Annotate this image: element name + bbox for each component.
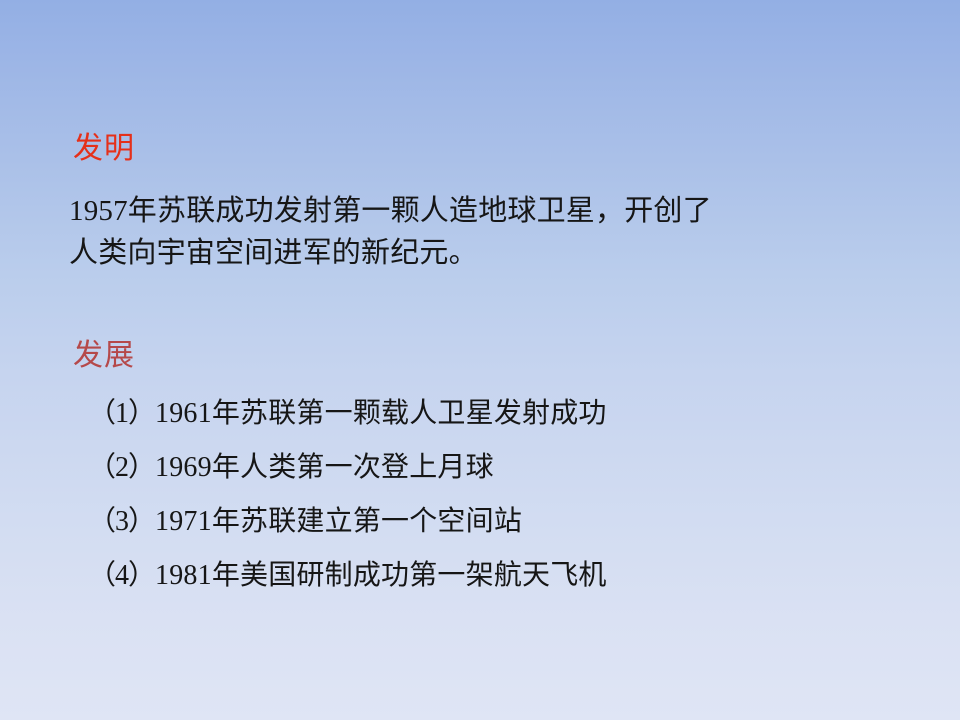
development-list: （1）1961年苏联第一颗载人卫星发射成功 （2）1969年人类第一次登上月球 …	[88, 398, 908, 614]
list-item-label: 1971年苏联建立第一个空间站	[155, 506, 522, 537]
list-item-marker: （1）	[88, 398, 155, 429]
list-item-label: 1969年人类第一次登上月球	[155, 452, 494, 483]
slide-content: 发明 1957年苏联成功发射第一颗人造地球卫星，开创了 人类向宇宙空间进军的新纪…	[0, 0, 960, 720]
list-item: （4）1981年美国研制成功第一架航天飞机	[88, 560, 908, 614]
invention-paragraph-line-2: 人类向宇宙空间进军的新纪元。	[69, 232, 829, 274]
invention-paragraph-line-1: 1957年苏联成功发射第一颗人造地球卫星，开创了	[69, 190, 829, 232]
section-heading-development: 发展	[73, 338, 135, 374]
list-item-marker: （2）	[88, 452, 155, 483]
invention-paragraph: 1957年苏联成功发射第一颗人造地球卫星，开创了 人类向宇宙空间进军的新纪元。	[69, 190, 829, 274]
list-item-label: 1961年苏联第一颗载人卫星发射成功	[155, 398, 607, 429]
slide-canvas: 发明 1957年苏联成功发射第一颗人造地球卫星，开创了 人类向宇宙空间进军的新纪…	[0, 0, 960, 720]
list-item: （2）1969年人类第一次登上月球	[88, 452, 908, 506]
section-heading-invention: 发明	[73, 131, 135, 167]
list-item-marker: （3）	[88, 506, 155, 537]
list-item: （1）1961年苏联第一颗载人卫星发射成功	[88, 398, 908, 452]
list-item: （3）1971年苏联建立第一个空间站	[88, 506, 908, 560]
list-item-marker: （4）	[88, 560, 155, 591]
list-item-label: 1981年美国研制成功第一架航天飞机	[155, 560, 607, 591]
